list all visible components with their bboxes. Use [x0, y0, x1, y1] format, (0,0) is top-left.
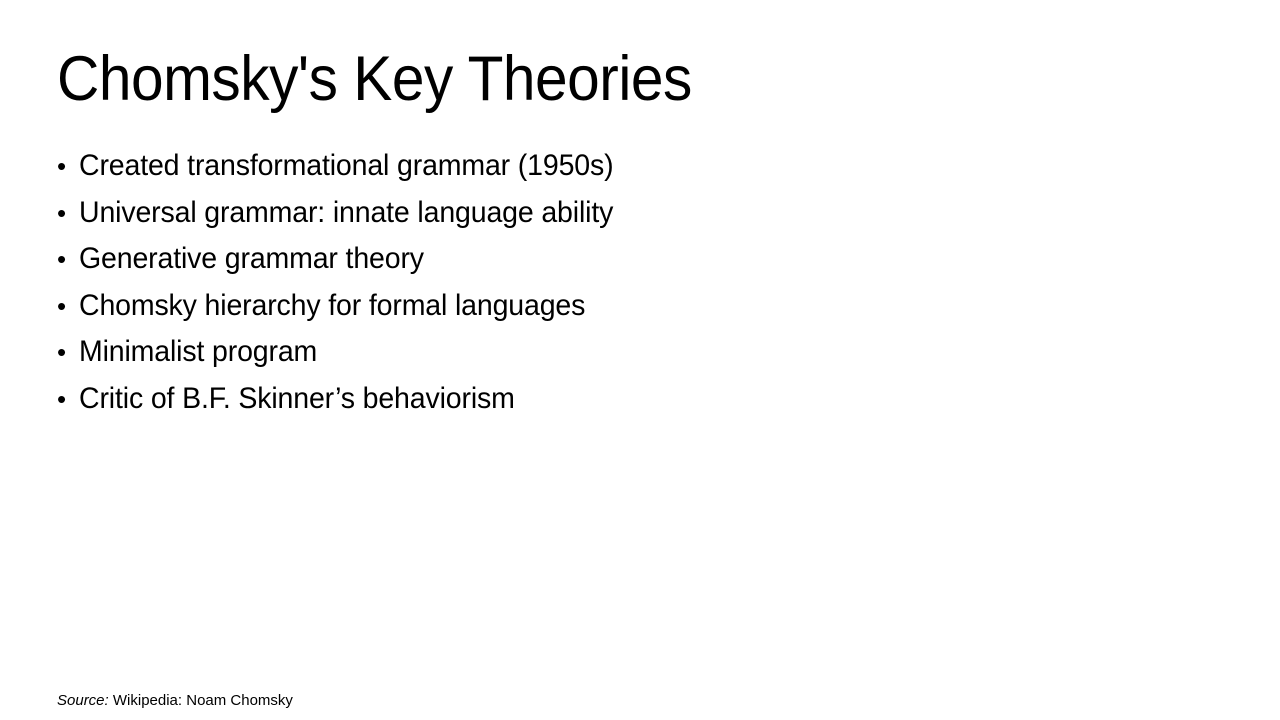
list-item-label: Generative grammar theory — [79, 241, 424, 277]
list-item: • Critic of B.F. Skinner’s behaviorism — [57, 381, 817, 428]
bullet-point-icon: • — [57, 381, 79, 417]
bullet-point-icon: • — [57, 195, 79, 231]
bullet-point-icon: • — [57, 334, 79, 370]
bullet-point-icon: • — [57, 241, 79, 277]
list-item-label: Universal grammar: innate language abili… — [79, 195, 613, 231]
page-title: Chomsky's Key Theories — [57, 48, 692, 111]
list-item-label: Created transformational grammar (1950s) — [79, 148, 613, 184]
list-item: • Minimalist program — [57, 334, 817, 381]
list-item-label: Chomsky hierarchy for formal languages — [79, 288, 585, 324]
slide-canvas: Chomsky's Key Theories • Created transfo… — [0, 0, 1280, 720]
list-item: • Generative grammar theory — [57, 241, 817, 288]
bullet-list: • Created transformational grammar (1950… — [57, 148, 817, 427]
bullet-point-icon: • — [57, 288, 79, 324]
list-item: • Created transformational grammar (1950… — [57, 148, 817, 195]
source-attribution: Source: Wikipedia: Noam Chomsky — [57, 691, 293, 711]
list-item-label: Critic of B.F. Skinner’s behaviorism — [79, 381, 515, 417]
bullet-point-icon: • — [57, 148, 79, 184]
list-item-label: Minimalist program — [79, 334, 317, 370]
source-value: Wikipedia: Noam Chomsky — [113, 692, 293, 709]
list-item: • Chomsky hierarchy for formal languages — [57, 288, 817, 335]
source-label: Source: — [57, 692, 109, 709]
list-item: • Universal grammar: innate language abi… — [57, 195, 817, 242]
